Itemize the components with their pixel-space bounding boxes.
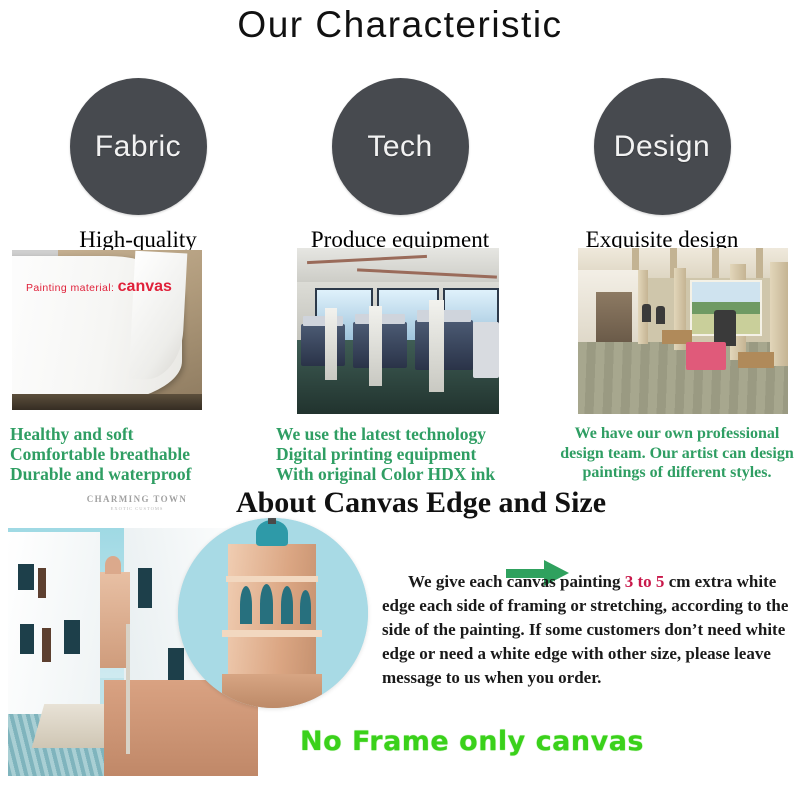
caption-design-line-3: paintings of different styles. (558, 463, 796, 483)
badge-label-tech: Tech (367, 130, 432, 164)
caption-design: We have our own professional design team… (558, 424, 796, 483)
badge-label-fabric: Fabric (95, 130, 181, 164)
brand-name: CHARMING TOWN (78, 494, 196, 504)
caption-fabric-line-3: Durable and waterproof (10, 464, 270, 484)
badge-circle-design: Design (594, 78, 731, 215)
page-title: Our Characteristic (0, 4, 800, 46)
infographic-page: Our Characteristic Fabric High-quality T… (0, 0, 800, 800)
canvas-overlay-prefix: Painting material: (26, 282, 114, 294)
caption-design-line-1: We have our own professional (558, 424, 796, 444)
brand-watermark: CHARMING TOWN EXOTIC CUSTOMS (78, 494, 196, 511)
canvas-material-photo: Painting material: canvas (12, 250, 202, 410)
caption-fabric: Healthy and soft Comfortable breathable … (10, 424, 270, 484)
feature-item-tech: Tech Produce equipment (267, 78, 533, 253)
edge-size-paragraph: We give each canvas painting 3 to 5 cm e… (382, 570, 794, 690)
caption-tech-line-1: We use the latest technology (276, 424, 544, 444)
caption-fabric-line-1: Healthy and soft (10, 424, 270, 444)
section-header-row: CHARMING TOWN EXOTIC CUSTOMS About Canva… (0, 486, 800, 526)
caption-fabric-line-2: Comfortable breathable (10, 444, 270, 464)
photo-row: Painting material: canvas (0, 248, 800, 416)
caption-tech-line-3: With original Color HDX ink (276, 464, 544, 484)
paragraph-highlight: 3 to 5 (625, 572, 665, 591)
section-title: About Canvas Edge and Size (186, 486, 656, 520)
paragraph-part-1: We give each canvas painting (408, 572, 625, 591)
badge-circle-tech: Tech (332, 78, 469, 215)
feature-item-fabric: Fabric High-quality (5, 78, 271, 253)
magnifier-circle (178, 518, 368, 708)
design-studio-photo (578, 248, 788, 414)
feature-badge-row: Fabric High-quality Tech Produce equipme… (0, 78, 800, 183)
canvas-overlay-word: canvas (118, 278, 172, 295)
badge-circle-fabric: Fabric (70, 78, 207, 215)
caption-design-line-2: design team. Our artist can design (558, 444, 796, 464)
caption-tech-line-2: Digital printing equipment (276, 444, 544, 464)
printing-equipment-photo (297, 248, 499, 414)
no-frame-note: No Frame only canvas (300, 726, 644, 757)
canvas-overlay-text: Painting material: canvas (26, 278, 172, 296)
caption-tech: We use the latest technology Digital pri… (276, 424, 544, 484)
badge-label-design: Design (614, 130, 710, 164)
feature-item-design: Design Exquisite design (529, 78, 795, 253)
brand-subtitle: EXOTIC CUSTOMS (78, 506, 196, 511)
